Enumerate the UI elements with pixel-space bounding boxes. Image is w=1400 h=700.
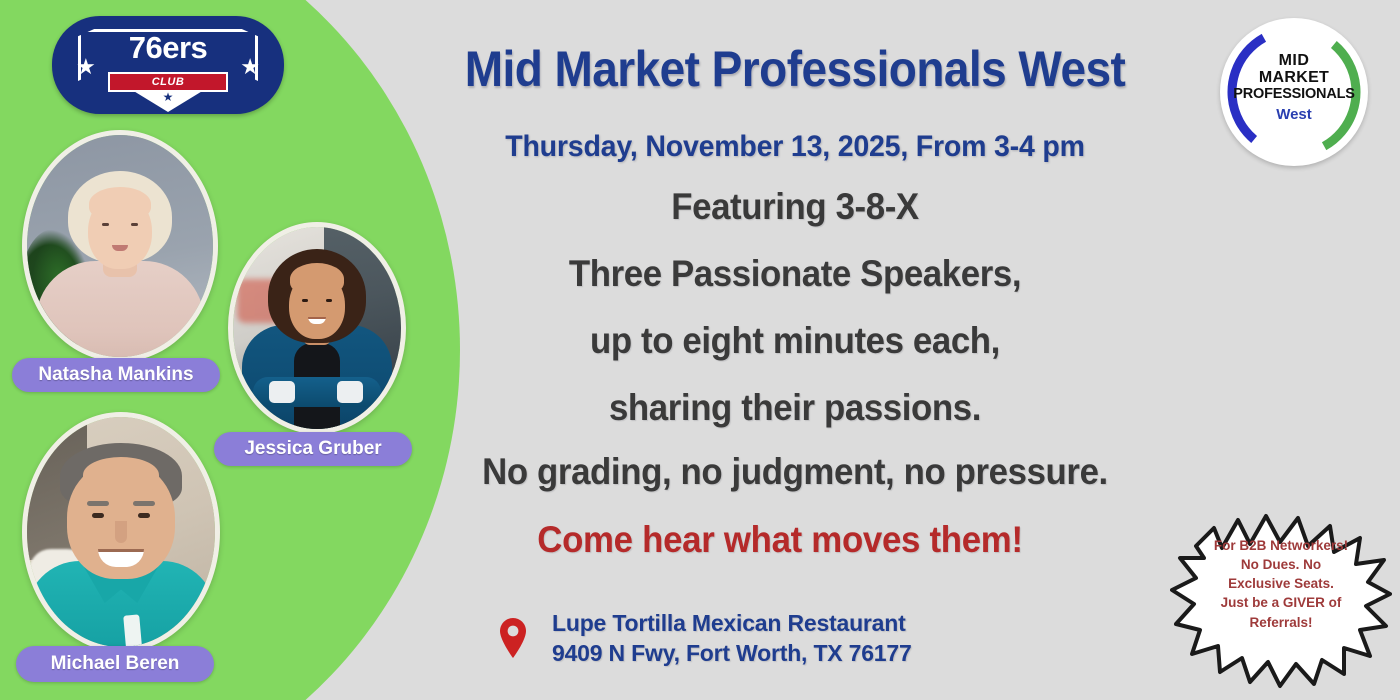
body-line-minutes: up to eight minutes each, (405, 320, 1185, 362)
venue-address: 9409 N Fwy, Fort Worth, TX 76177 (552, 638, 912, 668)
badge-ribbon: CLUB (108, 72, 228, 92)
starburst-line-4: Just be a GIVER of (1194, 593, 1368, 612)
logo-line-professionals: PROFESSIONALS (1220, 87, 1368, 103)
speaker-photo-jessica (228, 222, 406, 434)
badge-ribbon-label: CLUB (152, 76, 185, 88)
badge-shield-icon: ★ (132, 90, 204, 112)
body-line-speakers: Three Passionate Speakers, (405, 253, 1185, 295)
starburst-line-1: For B2B Networkers! (1194, 536, 1368, 555)
starburst-line-5: Referrals! (1194, 613, 1368, 632)
badge-star-right-icon: ★ (240, 56, 260, 78)
page-title: Mid Market Professionals West (422, 40, 1167, 98)
badge-shield-star-icon: ★ (163, 90, 174, 112)
body-line-passions: sharing their passions. (405, 387, 1185, 429)
badge-star-left-icon: ★ (76, 56, 96, 78)
location-pin-icon (496, 616, 530, 660)
starburst-line-3: Exclusive Seats. (1194, 574, 1368, 593)
starburst-line-2: No Dues. No (1194, 555, 1368, 574)
event-flyer: 76ers ★ ★ CLUB ★ Natasha Mankins (0, 0, 1400, 700)
event-datetime: Thursday, November 13, 2025, From 3-4 pm (410, 130, 1180, 164)
call-to-action: Come hear what moves them! (404, 519, 1156, 561)
speaker-photo-natasha (22, 130, 218, 362)
speaker-name-jessica: Jessica Gruber (214, 432, 412, 466)
venue-text: Lupe Tortilla Mexican Restaurant 9409 N … (552, 608, 912, 669)
starburst-text: For B2B Networkers! No Dues. No Exclusiv… (1194, 536, 1368, 632)
speaker-name-michael: Michael Beren (16, 646, 214, 682)
body-line-featuring: Featuring 3-8-X (405, 186, 1185, 228)
body-line-no-pressure: No grading, no judgment, no pressure. (405, 451, 1185, 493)
logo-line-market: MARKET (1220, 69, 1368, 86)
speaker-name-natasha: Natasha Mankins (12, 358, 220, 392)
portrait-illustration (27, 417, 215, 647)
starburst-badge: For B2B Networkers! No Dues. No Exclusiv… (1170, 506, 1392, 692)
portrait-illustration (233, 227, 401, 429)
logo-line-mid: MID (1220, 52, 1368, 69)
logo-wordmark: MID MARKET PROFESSIONALS West (1220, 52, 1368, 123)
portrait-illustration (27, 135, 213, 357)
speaker-photo-michael (22, 412, 220, 652)
76ers-club-badge: 76ers ★ ★ CLUB ★ (52, 16, 284, 114)
venue-name: Lupe Tortilla Mexican Restaurant (552, 608, 912, 638)
mid-market-professionals-logo: MID MARKET PROFESSIONALS West (1220, 18, 1368, 166)
venue-block: Lupe Tortilla Mexican Restaurant 9409 N … (496, 608, 912, 669)
logo-line-west: West (1220, 107, 1368, 123)
